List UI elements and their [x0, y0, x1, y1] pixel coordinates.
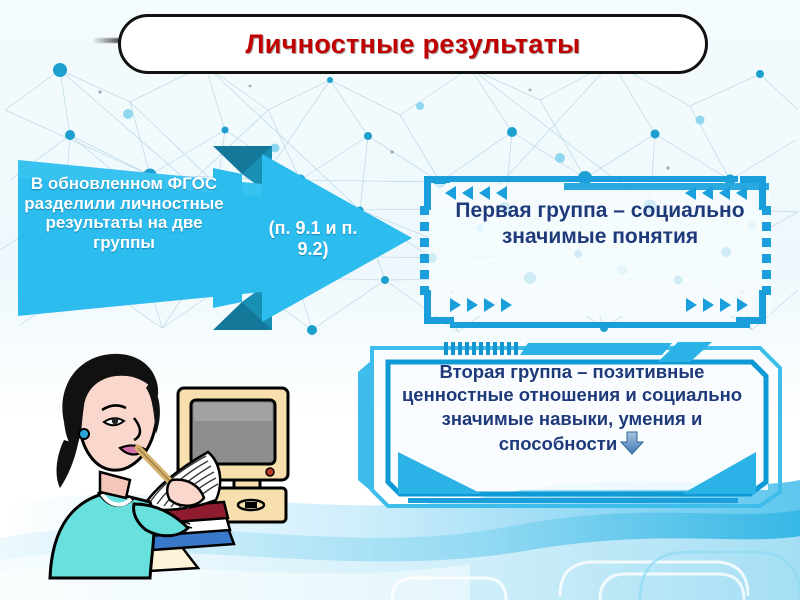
second-group-text-body: Вторая группа – позитивные ценностные от… [402, 361, 742, 454]
first-group-box-frame [414, 172, 784, 330]
slide-root: Личностные результаты В обновленном ФГОС… [0, 0, 800, 600]
process-arrow-reference: (п. 9.1 и п. 9.2) [258, 218, 368, 260]
process-arrow: В обновленном ФГОС разделили личностные … [10, 138, 420, 338]
right-dot-column [762, 206, 771, 295]
clipart-woman-reading-at-computer [38, 352, 318, 582]
second-group-box: Вторая группа – позитивные ценностные от… [352, 342, 796, 512]
process-arrow-label: В обновленном ФГОС разделили личностные … [24, 174, 224, 253]
first-group-text: Первая группа – социально значимые понят… [440, 198, 760, 249]
second-group-text: Вторая группа – позитивные ценностные от… [382, 360, 762, 461]
down-arrow-icon [619, 430, 645, 461]
page-title: Личностные результаты [118, 14, 708, 74]
left-dot-column [420, 206, 429, 295]
page-title-text: Личностные результаты [246, 29, 581, 60]
first-group-box: Первая группа – социально значимые понят… [414, 172, 784, 330]
bottom-left-triangle-markers [450, 298, 512, 312]
bottom-right-triangle-markers [686, 298, 748, 312]
